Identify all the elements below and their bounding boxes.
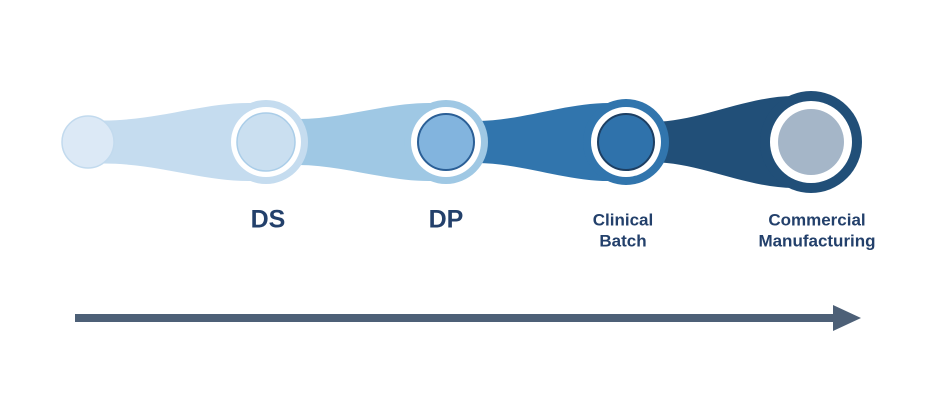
stage-node-4-inner-circle bbox=[778, 109, 844, 175]
stage-label-dp: DP bbox=[429, 206, 464, 234]
stage-node-0-circle bbox=[62, 116, 114, 168]
stage-node-3-inner-circle bbox=[598, 114, 654, 170]
stage-node-2[interactable] bbox=[404, 100, 488, 184]
stage-node-4[interactable] bbox=[760, 91, 862, 193]
stage-node-2-inner-circle bbox=[418, 114, 474, 170]
stage-label-clinical-batch-line2: Batch bbox=[599, 231, 646, 250]
stage-node-1-inner-circle bbox=[237, 113, 295, 171]
stage-label-ds: DS bbox=[251, 206, 286, 234]
progress-arrow bbox=[75, 305, 861, 331]
stage-label-commercial-manufacturing-line2: Manufacturing bbox=[758, 231, 875, 250]
progress-arrow-shape bbox=[75, 305, 861, 331]
process-flow-canvas: DS DP Clinical Batch Commercial Manufact… bbox=[0, 0, 940, 414]
stage-label-group: DS DP Clinical Batch Commercial Manufact… bbox=[251, 206, 876, 251]
stage-node-3[interactable] bbox=[583, 99, 669, 185]
stage-label-clinical-batch-line1: Clinical bbox=[593, 210, 653, 229]
stage-node-1[interactable] bbox=[224, 100, 308, 184]
process-flow-diagram: DS DP Clinical Batch Commercial Manufact… bbox=[0, 0, 940, 414]
stage-node-0[interactable] bbox=[62, 116, 114, 168]
stage-label-commercial-manufacturing-line1: Commercial bbox=[768, 210, 865, 229]
